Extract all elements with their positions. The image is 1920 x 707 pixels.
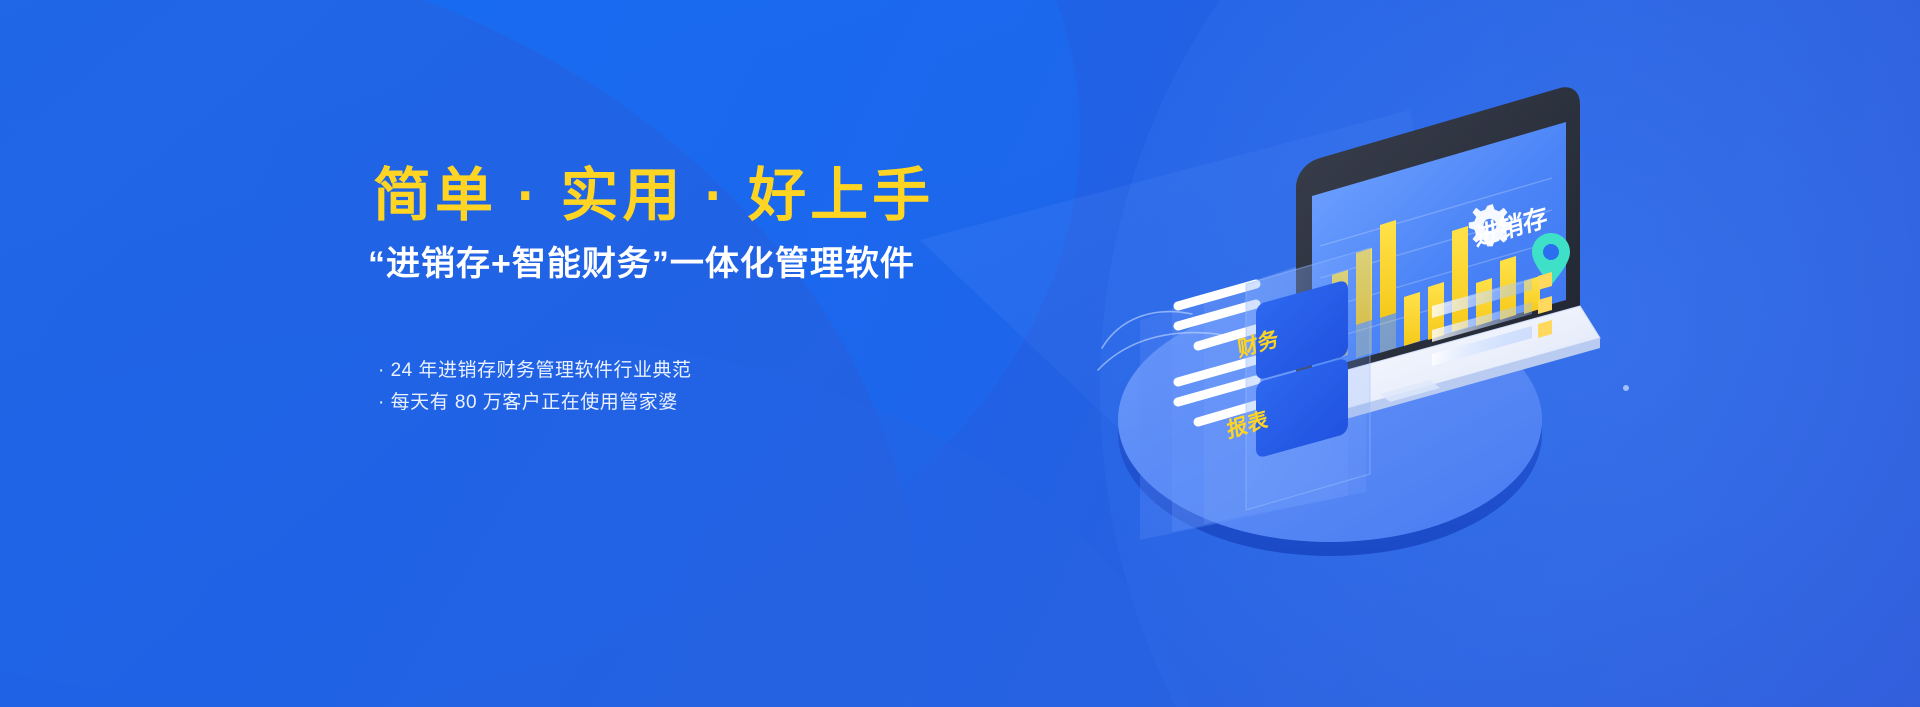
hero-illustration: 进销存 xyxy=(1080,70,1640,630)
hero-copy: 简单 · 实用 · 好上手 “进销存+智能财务”一体化管理软件 · 24 年进销… xyxy=(0,0,1000,707)
feature-bullet-list: · 24 年进销存财务管理软件行业典范 · 每天有 80 万客户正在使用管家婆 xyxy=(378,355,692,419)
sparkle-dot xyxy=(1623,385,1629,391)
hero-banner: 简单 · 实用 · 好上手 “进销存+智能财务”一体化管理软件 · 24 年进销… xyxy=(0,0,1920,707)
list-item: · 24 年进销存财务管理软件行业典范 xyxy=(378,355,692,387)
page-title: 简单 · 实用 · 好上手 xyxy=(373,167,934,225)
page-subtitle: “进销存+智能财务”一体化管理软件 xyxy=(368,247,915,281)
list-item: · 每天有 80 万客户正在使用管家婆 xyxy=(378,387,692,419)
